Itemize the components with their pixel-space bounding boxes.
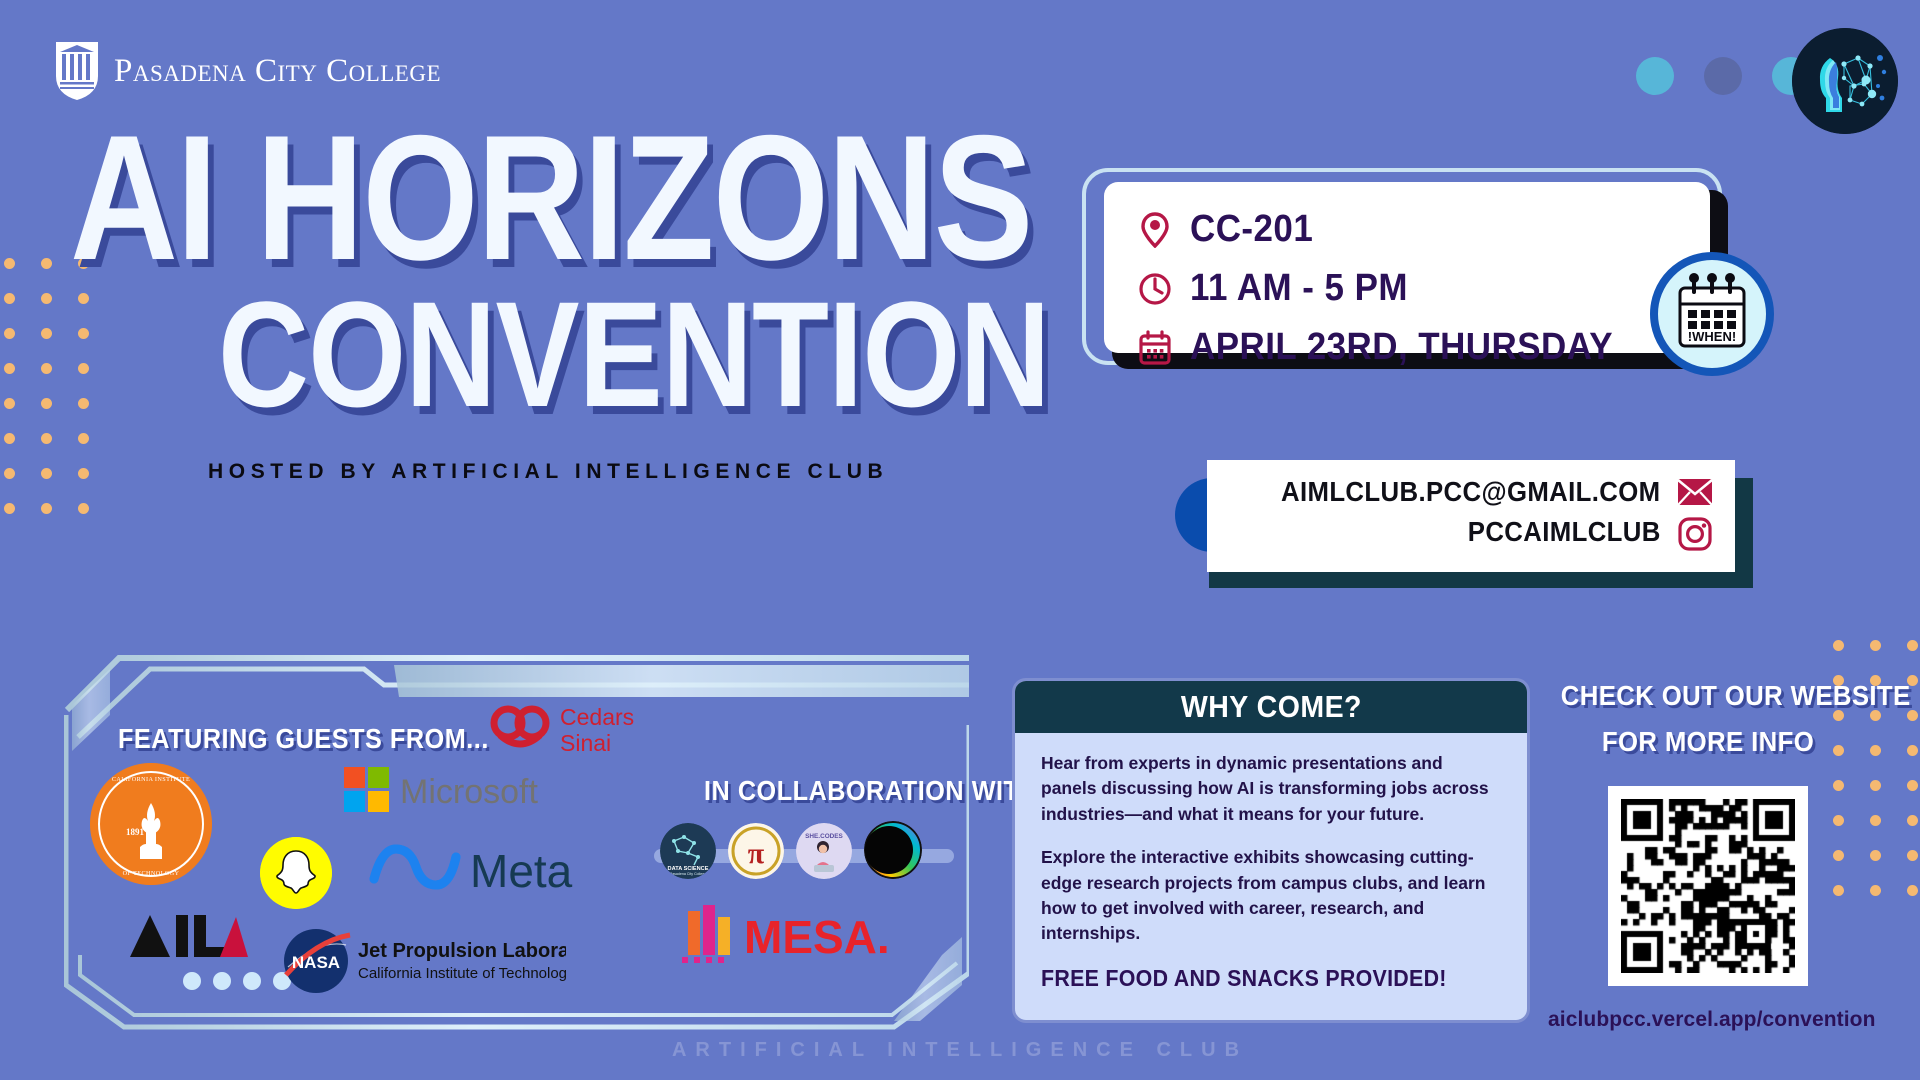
pcc-shield-icon xyxy=(54,40,100,102)
hosted-by-label: HOSTED BY ARTIFICIAL INTELLIGENCE CLUB xyxy=(208,460,1070,484)
contact-card-surface: AIMLCLUB.PCC@GMAIL.COM PCCAIMLCLUB xyxy=(1207,460,1735,572)
pcc-logo: Pasadena City College xyxy=(54,40,441,102)
decorative-dot xyxy=(1870,815,1881,826)
decorative-dot xyxy=(4,293,15,304)
why-come-header: WHY COME? xyxy=(1015,681,1527,733)
decorative-dot xyxy=(1907,640,1918,651)
why-come-body: Hear from experts in dynamic presentatio… xyxy=(1015,733,1527,992)
contact-row-email[interactable]: AIMLCLUB.PCC@GMAIL.COM xyxy=(1207,476,1713,508)
free-food-highlight: FREE FOOD AND SNACKS PROVIDED! xyxy=(1041,965,1469,992)
cedars-sinai-caption-2: Sinai xyxy=(560,730,611,756)
data-science-club-logo: DATA SCIENCE Pasadena City College xyxy=(660,823,716,879)
decorative-dot xyxy=(1870,780,1881,791)
page-title-line-1: AI HORIZONS xyxy=(70,125,910,271)
rainbow-club-logo xyxy=(864,821,922,879)
mesa-logo: MESA. xyxy=(672,903,922,965)
qr-code-canvas xyxy=(1621,799,1795,973)
event-card-surface: CC-201 11 AM - 5 PM xyxy=(1104,182,1710,353)
instagram-icon xyxy=(1677,517,1713,547)
decorative-dot xyxy=(1870,850,1881,861)
contact-row-instagram[interactable]: PCCAIMLCLUB xyxy=(1207,516,1713,548)
collaboration-label: IN COLLABORATION WITH xyxy=(704,775,1038,807)
math-pi-club-logo: π xyxy=(728,823,784,879)
contact-instagram-value: PCCAIMLCLUB xyxy=(1468,516,1661,548)
decorative-dot xyxy=(4,258,15,269)
decorative-dot xyxy=(1833,640,1844,651)
calendar-icon xyxy=(1138,330,1172,366)
decorative-dot xyxy=(1907,745,1918,756)
decorative-dot xyxy=(41,258,52,269)
decorative-dot xyxy=(41,293,52,304)
location-pin-icon xyxy=(1138,212,1172,248)
pi-symbol: π xyxy=(748,837,765,870)
ai-head-network-icon xyxy=(1792,28,1898,134)
jpl-caption: Jet Propulsion Laboratory xyxy=(358,940,566,962)
page-title-line-2: CONVENTION xyxy=(218,293,934,416)
event-detail-time: 11 AM - 5 PM xyxy=(1138,267,1710,310)
cedars-sinai-caption-1: Cedars xyxy=(560,704,634,730)
why-come-panel: WHY COME? Hear from experts in dynamic p… xyxy=(1012,678,1530,1023)
footer-watermark: ARTIFICIAL INTELLIGENCE CLUB xyxy=(0,1039,1920,1062)
decorative-dot xyxy=(1870,745,1881,756)
decorative-dot xyxy=(4,468,15,479)
she-codes-caption: SHE.CODES xyxy=(805,833,843,840)
contact-email-value: AIMLCLUB.PCC@GMAIL.COM xyxy=(1281,476,1661,508)
data-science-subcaption: Pasadena City College xyxy=(670,872,707,876)
microsoft-logo: Microsoft xyxy=(342,763,538,817)
featuring-guests-label: FEATURING GUESTS FROM... xyxy=(118,723,489,755)
decorative-dot xyxy=(1907,710,1918,721)
event-detail-date: APRIL 23RD, THURSDAY xyxy=(1138,326,1710,369)
why-come-title: WHY COME? xyxy=(1180,689,1361,725)
poster-canvas: Pasadena City College xyxy=(0,0,1920,1080)
decorative-dot xyxy=(1907,815,1918,826)
decorative-dot xyxy=(41,433,52,444)
svg-text:CALIFORNIA INSTITUTE: CALIFORNIA INSTITUTE xyxy=(112,776,190,783)
event-date-value: APRIL 23RD, THURSDAY xyxy=(1190,326,1613,369)
event-time-value: 11 AM - 5 PM xyxy=(1190,267,1408,310)
website-callout-line-1: CHECK OUT OUR WEBSITE xyxy=(1561,680,1855,712)
decorative-dot xyxy=(1907,850,1918,861)
website-callout-line-2: FOR MORE INFO xyxy=(1561,726,1855,758)
decorative-dot xyxy=(41,398,52,409)
decorative-dot xyxy=(1907,780,1918,791)
decorative-dot xyxy=(41,503,52,514)
cedars-sinai-logo: Cedars Sinai xyxy=(484,695,674,765)
svg-text:NASA: NASA xyxy=(292,953,340,972)
hero-block: AI HORIZONS CONVENTION HOSTED BY ARTIFIC… xyxy=(70,125,1070,484)
contact-card: AIMLCLUB.PCC@GMAIL.COM PCCAIMLCLUB xyxy=(1185,460,1745,572)
pcc-wordmark: Pasadena City College xyxy=(114,53,441,90)
snapchat-logo xyxy=(260,837,332,909)
jpl-subcaption: California Institute of Technology xyxy=(358,965,566,982)
qr-code-icon[interactable] xyxy=(1608,786,1808,986)
event-location-value: CC-201 xyxy=(1190,208,1313,251)
event-details-card: CC-201 11 AM - 5 PM xyxy=(1082,168,1722,365)
decorative-dot xyxy=(1907,885,1918,896)
decorative-dot xyxy=(1870,710,1881,721)
why-come-paragraph-2: Explore the interactive exhibits showcas… xyxy=(1041,845,1501,947)
nasa-jpl-logo: NASA Jet Propulsion Laboratory Californi… xyxy=(276,923,566,995)
featured-guests-panel: FEATURING GUESTS FROM... IN COLLABORATIO… xyxy=(64,655,969,1030)
decorative-dot xyxy=(78,503,89,514)
decorative-dot xyxy=(41,328,52,339)
header-dot-row xyxy=(1636,57,1810,95)
event-detail-location: CC-201 xyxy=(1138,208,1710,251)
decorative-dot xyxy=(4,328,15,339)
decorative-dot xyxy=(1870,885,1881,896)
envelope-icon xyxy=(1677,477,1713,507)
decorative-dot xyxy=(4,433,15,444)
decorative-dot xyxy=(41,363,52,374)
caltech-seal-logo: 1891 CALIFORNIA INSTITUTE OF TECHNOLOGY xyxy=(90,763,212,885)
mesa-caption: MESA. xyxy=(744,911,890,963)
decorative-dot xyxy=(4,363,15,374)
meta-caption: Meta xyxy=(470,845,573,897)
svg-text:OF TECHNOLOGY: OF TECHNOLOGY xyxy=(123,870,180,877)
header-dot-2 xyxy=(1704,57,1742,95)
decorative-dot xyxy=(41,468,52,479)
decorative-dot xyxy=(1870,640,1881,651)
website-block: CHECK OUT OUR WEBSITE FOR MORE INFO aicl… xyxy=(1548,680,1868,1032)
microsoft-caption: Microsoft xyxy=(400,773,538,811)
clock-icon xyxy=(1138,271,1172,307)
aila-logo xyxy=(124,905,250,963)
she-codes-club-logo: SHE.CODES xyxy=(796,823,852,879)
header-dot-1 xyxy=(1636,57,1674,95)
calendar-badge-icon: !WHEN! xyxy=(1650,252,1774,376)
website-url[interactable]: aiclubpcc.vercel.app/convention xyxy=(1548,1008,1868,1032)
decorative-dot xyxy=(4,398,15,409)
meta-logo: Meta xyxy=(364,835,594,899)
caltech-year: 1891 xyxy=(126,827,145,837)
calendar-badge-label: !WHEN! xyxy=(1688,329,1736,344)
decorative-dot xyxy=(4,503,15,514)
why-come-paragraph-1: Hear from experts in dynamic presentatio… xyxy=(1041,751,1501,827)
